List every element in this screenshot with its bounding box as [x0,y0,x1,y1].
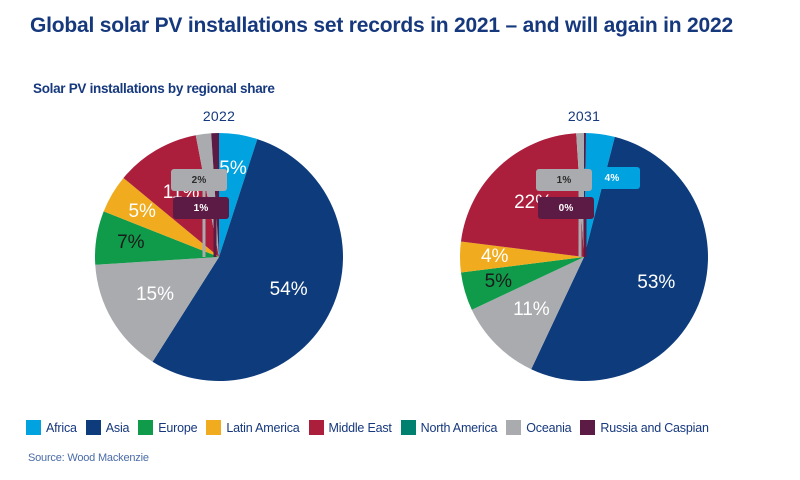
legend-item[interactable]: North America [401,420,498,435]
pie-callout-label: 0% [538,197,594,219]
pie-2031-year-label: 2031 [459,108,709,124]
legend-swatch-icon [206,420,221,435]
legend-swatch-icon [138,420,153,435]
pie-slice-value-label: 11% [513,299,550,321]
legend-item-label: Russia and Caspian [600,421,708,435]
pie-slice-value-label: 5% [128,201,155,223]
legend-item-label: Asia [106,421,130,435]
legend-item[interactable]: Europe [138,420,197,435]
legend-item[interactable]: Asia [86,420,130,435]
chart-legend: AfricaAsiaEuropeLatin AmericaMiddle East… [26,420,786,435]
chart-subtitle: Solar PV installations by regional share [33,81,275,96]
legend-swatch-icon [401,420,416,435]
legend-item-label: Latin America [226,421,299,435]
pie-slice-value-label: 4% [481,246,508,268]
legend-swatch-icon [86,420,101,435]
page-title: Global solar PV installations set record… [30,12,750,39]
legend-item[interactable]: Russia and Caspian [580,420,708,435]
legend-item[interactable]: Latin America [206,420,299,435]
legend-swatch-icon [580,420,595,435]
slide-canvas: Global solar PV installations set record… [0,0,800,480]
pie-slice-value-label: 7% [117,232,144,254]
legend-item-label: Oceania [526,421,571,435]
legend-swatch-icon [506,420,521,435]
legend-item-label: Middle East [329,421,392,435]
legend-item[interactable]: Oceania [506,420,571,435]
legend-item[interactable]: Africa [26,420,77,435]
legend-swatch-icon [26,420,41,435]
legend-item-label: Europe [158,421,197,435]
pie-callout-label: 2% [171,169,227,191]
pie-2022-year-label: 2022 [94,108,344,124]
pie-slice-value-label: 54% [270,279,308,301]
legend-swatch-icon [309,420,324,435]
pie-slice-value-label: 53% [637,272,675,294]
pie-callout-label: 4% [584,167,640,189]
legend-item-label: Africa [46,421,77,435]
legend-item[interactable]: Middle East [309,420,392,435]
pie-callout-label: 1% [173,197,229,219]
pie-callout-label: 1% [536,169,592,191]
source-note: Source: Wood Mackenzie [28,452,149,464]
pie-slice-value-label: 15% [136,284,174,306]
legend-item-label: North America [421,421,498,435]
pie-slice-value-label: 5% [485,271,512,293]
